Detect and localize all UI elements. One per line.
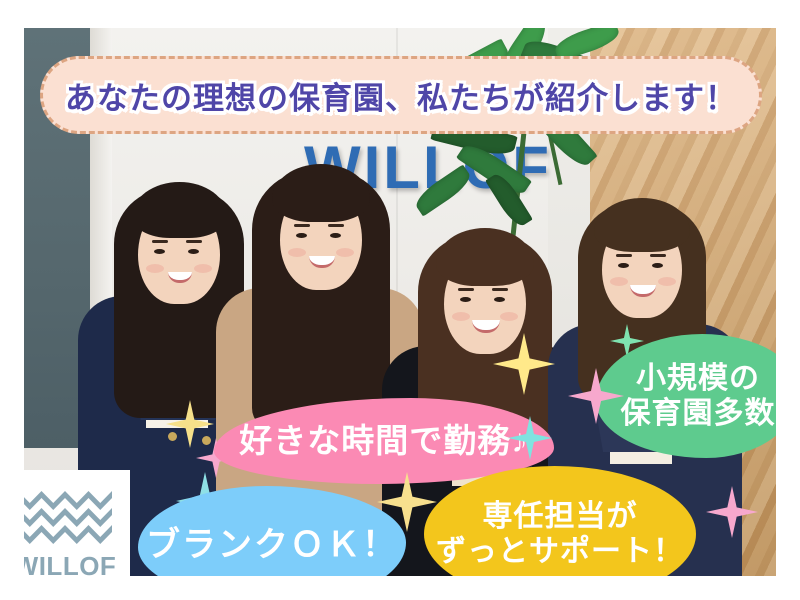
willof-logo-text: WILLOF xyxy=(14,551,117,582)
banner-root: WILLOF xyxy=(0,0,800,600)
bubble-blue-text: ブランクＯＫ！ xyxy=(146,525,398,565)
headline-ribbon: あなたの理想の保育園、私たちが紹介します！ xyxy=(40,56,762,134)
bubble-yellow-line2: ずっとサポート！ xyxy=(436,534,684,569)
person-3-bangs xyxy=(436,228,534,286)
willof-zigzag-icon xyxy=(18,489,112,545)
person-4-bangs xyxy=(594,198,690,252)
willof-logo-box[interactable]: WILLOF xyxy=(0,470,130,600)
bubble-yellow-line1: 専任担当が xyxy=(436,499,684,534)
bubble-green-line1: 小規模の xyxy=(621,361,776,396)
bubble-blank-ok[interactable]: ブランクＯＫ！ xyxy=(138,486,406,600)
bubble-green-line2: 保育園多数 xyxy=(621,396,776,431)
bubble-dedicated-support[interactable]: 専任担当が ずっとサポート！ xyxy=(424,466,696,600)
headline-text: あなたの理想の保育園、私たちが紹介します！ xyxy=(65,73,737,118)
person-2-bangs xyxy=(272,164,370,222)
bubble-small-nurseries[interactable]: 小規模の 保育園多数 xyxy=(596,334,800,458)
bubble-pink-text: 好きな時間で勤務♪ xyxy=(239,422,529,461)
